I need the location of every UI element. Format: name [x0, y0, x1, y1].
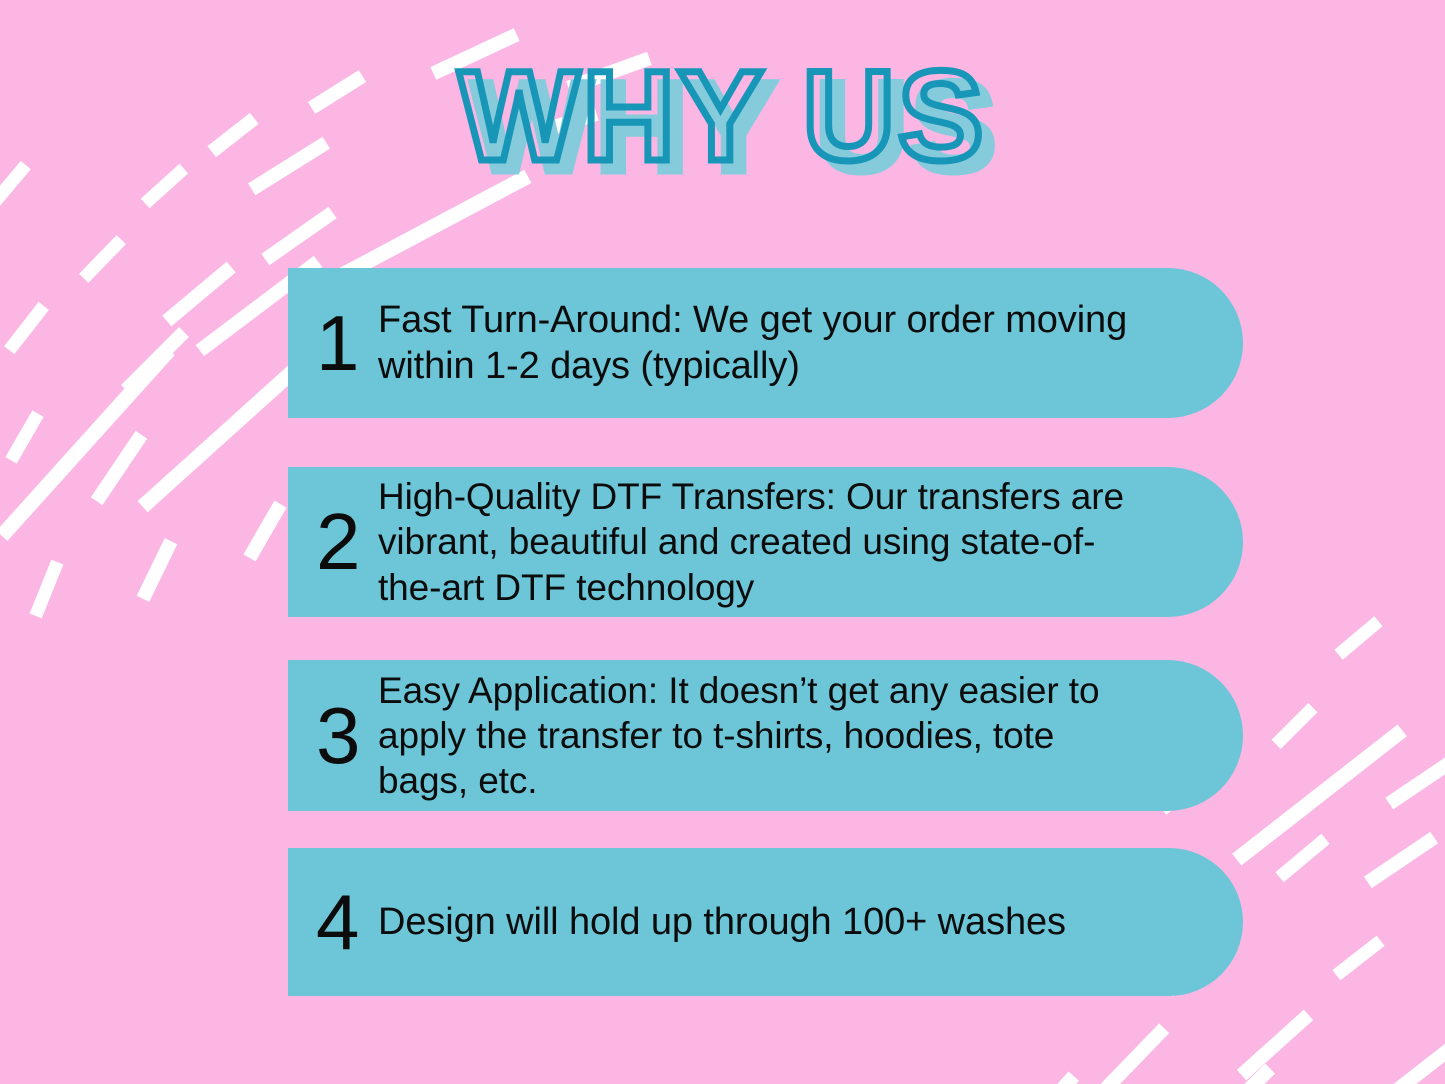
- decorative-stripe: [1215, 1064, 1275, 1084]
- decorative-stripe: [1275, 834, 1329, 883]
- decorative-stripe: [79, 235, 126, 283]
- decorative-stripe: [162, 262, 235, 327]
- decorative-stripe: [137, 538, 178, 602]
- page-title: WHY US WHY US: [0, 42, 1445, 192]
- benefit-card: 2 High-Quality DTF Transfers: Our transf…: [288, 467, 1243, 617]
- decorative-stripe: [1069, 1023, 1169, 1084]
- benefit-card: 4 Design will hold up through 100+ washe…: [288, 848, 1243, 996]
- benefit-number: 2: [316, 502, 378, 582]
- decorative-stripe: [0, 345, 175, 541]
- benefit-card: 3 Easy Application: It doesn’t get any e…: [288, 660, 1243, 811]
- decorative-stripe: [1232, 724, 1407, 865]
- decorative-stripe: [1334, 616, 1382, 659]
- benefit-number: 4: [316, 883, 378, 961]
- decorative-stripe: [4, 302, 49, 354]
- decorative-stripe: [5, 410, 43, 463]
- decorative-stripe: [1385, 731, 1445, 810]
- decorative-stripe: [1379, 1040, 1445, 1084]
- poster-canvas: WHY US WHY US 1 Fast Turn-Around: We get…: [0, 0, 1445, 1084]
- benefit-text: High-Quality DTF Transfers: Our transfer…: [378, 474, 1133, 609]
- title-outline-layer: WHY US: [0, 42, 1445, 192]
- decorative-stripe: [1237, 1010, 1313, 1081]
- decorative-stripe: [1332, 936, 1384, 981]
- decorative-stripe: [261, 207, 336, 266]
- benefit-number: 3: [316, 696, 378, 776]
- benefit-text: Fast Turn-Around: We get your order movi…: [378, 297, 1133, 390]
- decorative-stripe: [995, 1071, 1079, 1084]
- decorative-stripe: [91, 431, 147, 505]
- decorative-stripe: [1272, 703, 1318, 749]
- benefit-text: Easy Application: It doesn’t get any eas…: [378, 668, 1133, 803]
- decorative-stripe: [1364, 832, 1438, 888]
- benefit-number: 1: [316, 304, 378, 382]
- decorative-stripe: [243, 501, 286, 562]
- benefit-text: Design will hold up through 100+ washes: [378, 899, 1066, 945]
- decorative-stripe: [121, 327, 189, 395]
- benefit-card: 1 Fast Turn-Around: We get your order mo…: [288, 268, 1243, 418]
- decorative-stripe: [30, 560, 64, 619]
